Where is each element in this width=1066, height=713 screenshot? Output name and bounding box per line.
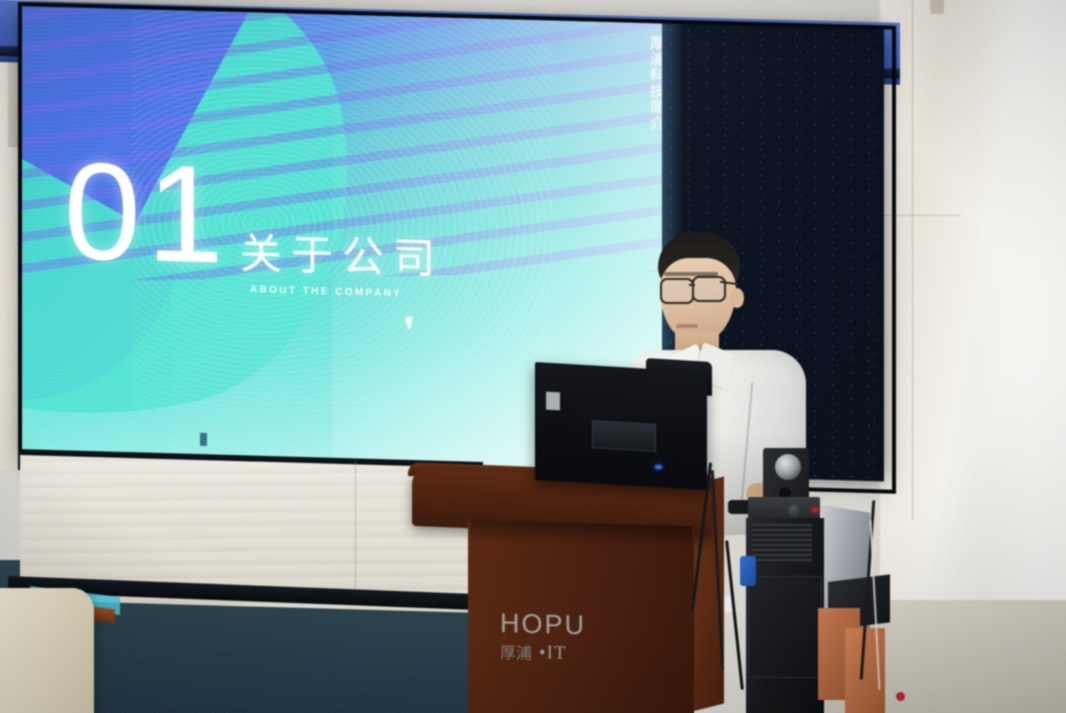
- glasses-bridge-icon: [689, 284, 695, 286]
- monitor-power-led-icon: [655, 465, 662, 469]
- slide-title-chinese: 关于公司: [240, 220, 444, 287]
- presenter-mouth: [676, 324, 698, 328]
- right-wall-seam: [912, 0, 913, 520]
- monitor-vesa-mount: [592, 420, 656, 452]
- glasses-lens-left-icon: [660, 278, 694, 304]
- conference-room-photo: 01 关于公司 ABOUT THE COMPANY 厚浦科技简介: [0, 0, 1066, 713]
- chair: [0, 588, 94, 713]
- pc-front-grill: [752, 524, 812, 564]
- pc-side-panel: [748, 576, 822, 678]
- monitor-sticker: [546, 392, 560, 411]
- speaker-driver-icon: [775, 454, 801, 480]
- podium-body: [468, 520, 694, 713]
- blue-device: [740, 556, 756, 586]
- wainscot-seam: [355, 460, 356, 595]
- slide-artifact-mark: [200, 433, 207, 446]
- amplifier-power-led-icon: [812, 508, 818, 512]
- ceiling-fixture: [930, 0, 944, 14]
- floor-red-marker: [896, 692, 905, 701]
- right-wall-seam-horizontal: [880, 215, 960, 216]
- amplifier-volume-knob[interactable]: [788, 504, 802, 518]
- slide-vertical-text: 厚浦科技简介: [640, 35, 662, 132]
- presenter-ear: [730, 288, 744, 308]
- slide-section-number: 01: [64, 155, 230, 273]
